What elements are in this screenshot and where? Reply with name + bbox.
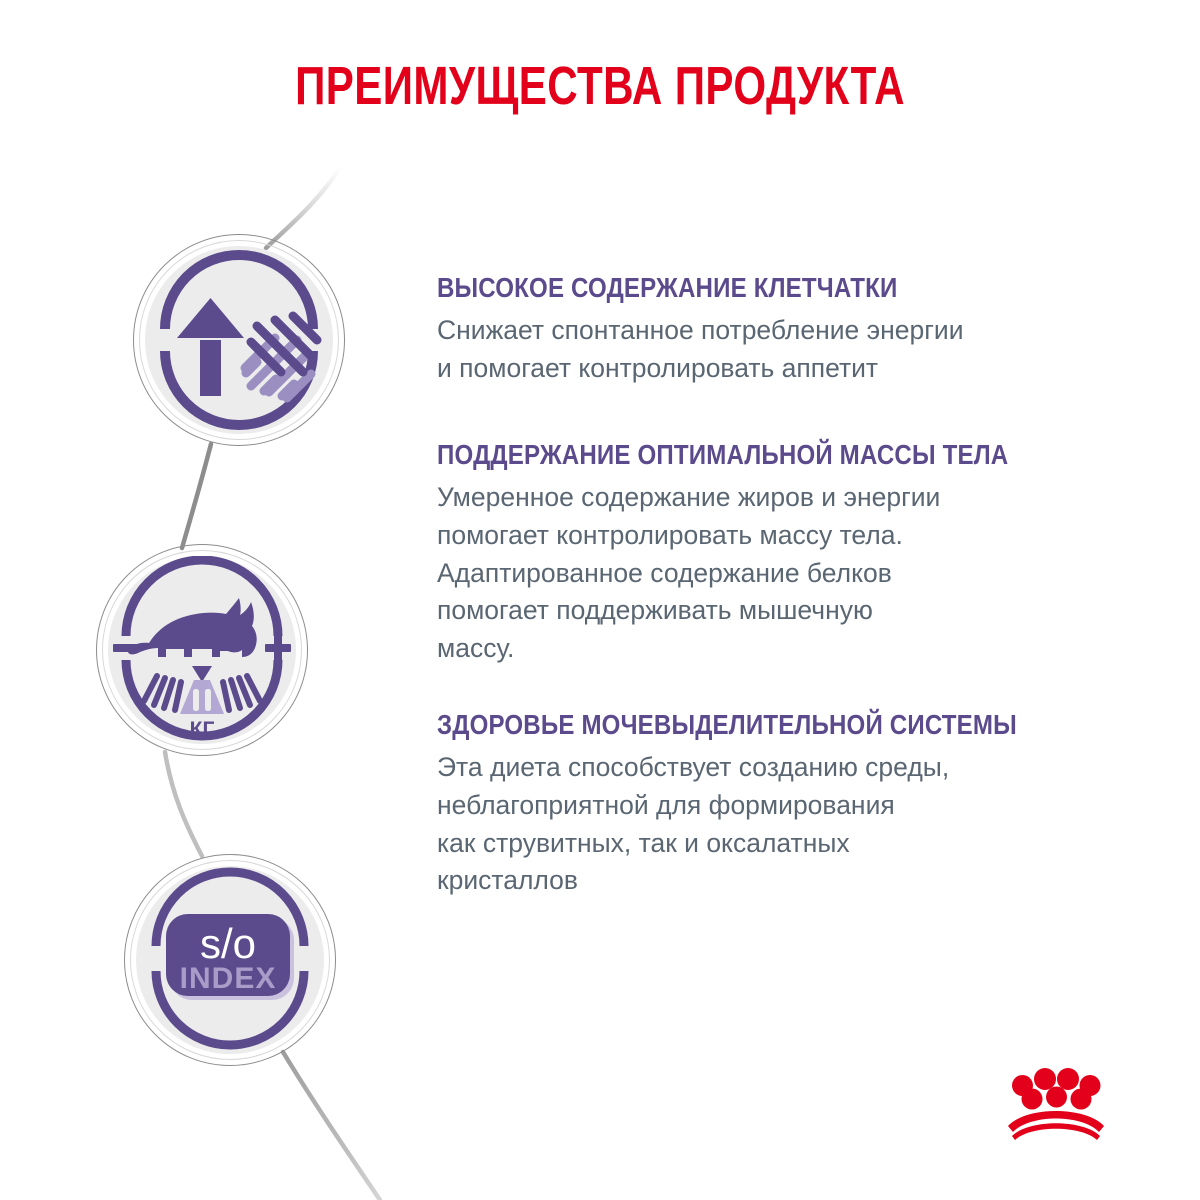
benefit-body-line: Снижает спонтанное потребление энергии: [437, 312, 1127, 350]
fiber-arrow-icon: [145, 246, 333, 434]
benefit-icon-3: s/o INDEX: [124, 854, 336, 1066]
benefit-body-line: Эта диета способствует созданию среды,: [437, 749, 1127, 787]
benefit-body-line: помогает контролировать массу тела.: [437, 517, 1127, 555]
benefit-body-line: и помогает контролировать аппетит: [437, 350, 1127, 388]
royal-canin-crown-logo: [1000, 1066, 1112, 1144]
benefit-item-2: ПОДДЕРЖАНИЕ ОПТИМАЛЬНОЙ МАССЫ ТЕЛА Умере…: [437, 439, 1127, 667]
benefits-list: ВЫСОКОЕ СОДЕРЖАНИЕ КЛЕТЧАТКИ Снижает спо…: [437, 272, 1127, 900]
benefit-body-line: массу.: [437, 630, 1127, 668]
so-index-secondary-text: INDEX: [180, 962, 277, 995]
benefit-body-line: как струвитных, так и оксалатных: [437, 825, 1127, 863]
so-index-icon: s/o INDEX: [136, 866, 324, 1054]
product-benefits-page: ПРЕИМУЩЕСТВА ПРОДУКТА: [0, 0, 1200, 1200]
cat-weight-scale-icon: КГ: [108, 556, 296, 744]
benefit-title-2: ПОДДЕРЖАНИЕ ОПТИМАЛЬНОЙ МАССЫ ТЕЛА: [437, 439, 1030, 471]
benefit-body-1: Снижает спонтанное потребление энергии и…: [437, 312, 1127, 387]
benefit-body-3: Эта диета способствует созданию среды, н…: [437, 749, 1127, 900]
so-index-primary-text: s/o: [200, 920, 256, 967]
benefit-body-line: Адаптированное содержание белков: [437, 555, 1127, 593]
cat-silhouette: [128, 598, 257, 657]
weight-unit-label: КГ: [190, 718, 215, 741]
page-title: ПРЕИМУЩЕСТВА ПРОДУКТА: [132, 58, 1068, 115]
benefit-title-3: ЗДОРОВЬЕ МОЧЕВЫДЕЛИТЕЛЬНОЙ СИСТЕМЫ: [437, 709, 1030, 741]
benefit-item-3: ЗДОРОВЬЕ МОЧЕВЫДЕЛИТЕЛЬНОЙ СИСТЕМЫ Эта д…: [437, 709, 1127, 900]
benefit-body-2: Умеренное содержание жиров и энергии пом…: [437, 479, 1127, 667]
benefit-item-1: ВЫСОКОЕ СОДЕРЖАНИЕ КЛЕТЧАТКИ Снижает спо…: [437, 272, 1127, 387]
plus-sign: [265, 635, 291, 661]
weight-block: [180, 680, 224, 714]
scale-pointer: [192, 666, 212, 682]
benefit-body-line: неблагоприятной для формирования: [437, 787, 1127, 825]
benefit-body-line: Умеренное содержание жиров и энергии: [437, 479, 1127, 517]
benefit-icon-1: [133, 234, 345, 446]
benefit-body-line: помогает поддерживать мышечную: [437, 592, 1127, 630]
benefit-icon-2: КГ: [96, 544, 308, 756]
benefit-body-line: кристаллов: [437, 862, 1127, 900]
benefit-title-1: ВЫСОКОЕ СОДЕРЖАНИЕ КЛЕТЧАТКИ: [437, 272, 1030, 304]
